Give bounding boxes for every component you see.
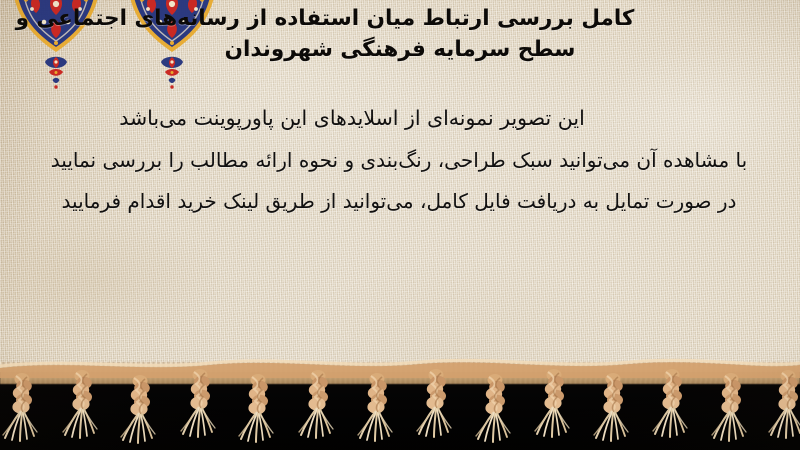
presentation-slide: کامل بررسی ارتباط میان استفاده از رسانه‌…	[0, 0, 800, 450]
slide-title: کامل بررسی ارتباط میان استفاده از رسانه‌…	[0, 4, 800, 65]
body-line-3: در صورت تمایل به دریافت فایل کامل، می‌تو…	[0, 191, 800, 211]
title-line-1: کامل بررسی ارتباط میان استفاده از رسانه‌…	[14, 4, 786, 35]
title-line-2: سطح سرمایه فرهنگی شهروندان	[14, 35, 786, 66]
body-line-2: با مشاهده آن می‌توانید سبک طراحی، رنگ‌بن…	[0, 150, 800, 170]
slide-body: این تصویر نمونه‌ای از اسلایدهای این پاور…	[0, 108, 800, 232]
carpet-selvedge-edge	[0, 362, 800, 384]
body-line-1: این تصویر نمونه‌ای از اسلایدهای این پاور…	[0, 108, 800, 129]
